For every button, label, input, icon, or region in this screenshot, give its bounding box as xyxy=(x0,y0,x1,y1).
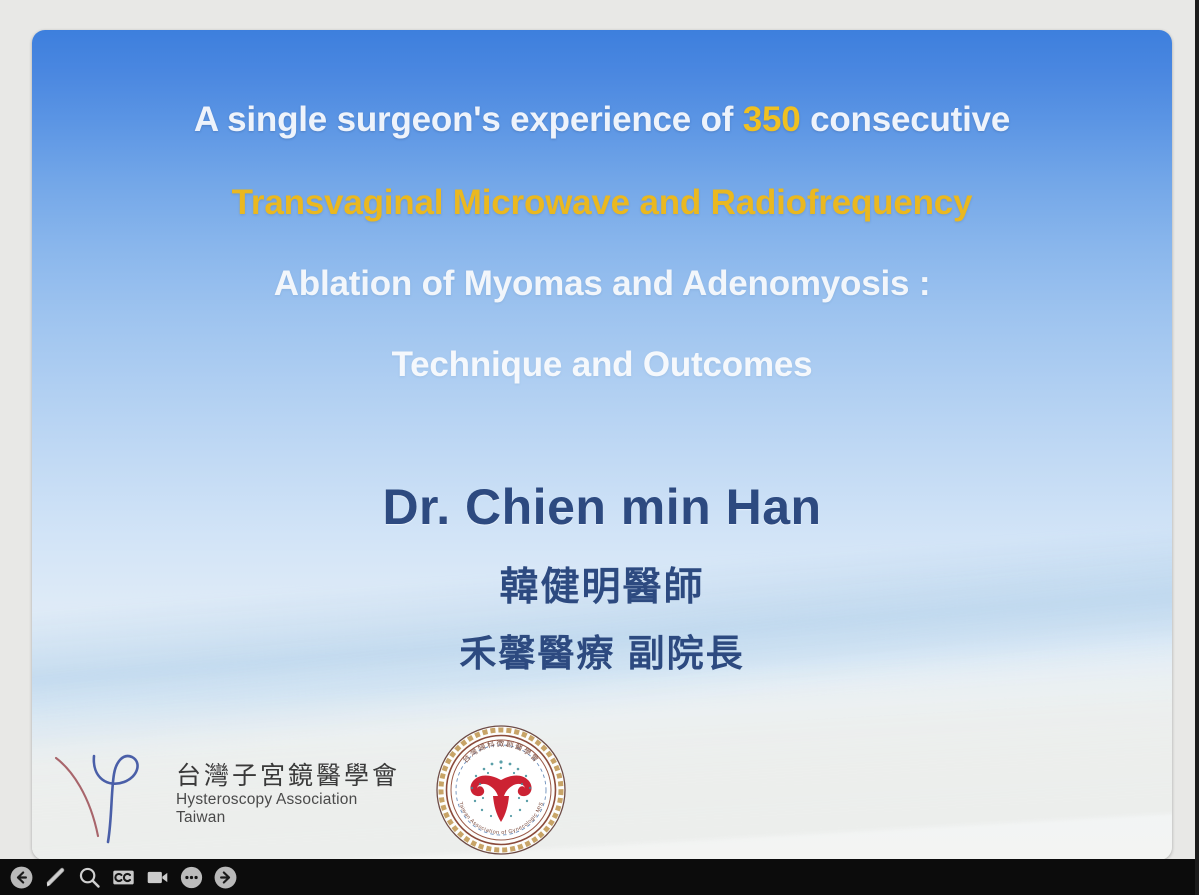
title-line-1: A single surgeon's experience of 350 con… xyxy=(72,102,1132,137)
logo-gynecology-society-seal-icon: 台灣婦科微創醫學會 Taiwan Association of Gynecolo… xyxy=(428,722,574,858)
ellipsis-circle-icon xyxy=(179,865,204,890)
title-case-count: 350 xyxy=(743,100,801,139)
video-camera-icon xyxy=(145,865,170,890)
cc-icon xyxy=(111,865,136,890)
video-button[interactable] xyxy=(140,860,174,894)
title-line-2: Transvaginal Microwave and Radiofrequenc… xyxy=(72,185,1132,220)
zoom-button[interactable] xyxy=(72,860,106,894)
captions-button[interactable] xyxy=(106,860,140,894)
hysteroscopy-logo-name-english-line2: Taiwan xyxy=(176,809,400,827)
presentation-viewer: A single surgeon's experience of 350 con… xyxy=(0,0,1199,895)
previous-slide-button[interactable] xyxy=(4,860,38,894)
presenter-name: Dr. Chien min Han xyxy=(32,482,1172,532)
slide-canvas: A single surgeon's experience of 350 con… xyxy=(32,30,1172,860)
title-line-3: Ablation of Myomas and Adenomyosis : xyxy=(72,266,1132,301)
presenter-name-chinese: 韓健明醫師 xyxy=(32,568,1172,607)
presenter-block: Dr. Chien min Han 韓健明醫師 禾馨醫療 副院長 xyxy=(32,482,1172,672)
next-slide-button[interactable] xyxy=(208,860,242,894)
title-line-1-suffix: consecutive xyxy=(801,100,1011,139)
logo-hysteroscopy-association-taiwan: 台灣子宮鏡醫學會 Hysteroscopy Association Taiwan xyxy=(46,742,400,854)
title-line-4: Technique and Outcomes xyxy=(72,347,1132,382)
presenter-affiliation-chinese: 禾馨醫療 副院長 xyxy=(32,635,1172,672)
player-toolbar xyxy=(0,859,1199,895)
arrow-right-circle-icon xyxy=(213,865,238,890)
pencil-icon xyxy=(43,865,68,890)
search-icon xyxy=(77,865,102,890)
hysteroscopy-logo-name-english-line1: Hysteroscopy Association xyxy=(176,791,400,809)
hysteroscopy-logo-text: 台灣子宮鏡醫學會 Hysteroscopy Association Taiwan xyxy=(176,762,400,833)
annotate-button[interactable] xyxy=(38,860,72,894)
hysteroscopy-logo-name-chinese: 台灣子宮鏡醫學會 xyxy=(176,762,400,791)
title-line-1-prefix: A single surgeon's experience of xyxy=(194,100,743,139)
arrow-left-circle-icon xyxy=(9,865,34,890)
logo-row: 台灣子宮鏡醫學會 Hysteroscopy Association Taiwan xyxy=(46,724,574,854)
more-options-button[interactable] xyxy=(174,860,208,894)
hysteroscopy-logo-mark-icon xyxy=(46,744,172,852)
slide-title-block: A single surgeon's experience of 350 con… xyxy=(32,102,1172,382)
